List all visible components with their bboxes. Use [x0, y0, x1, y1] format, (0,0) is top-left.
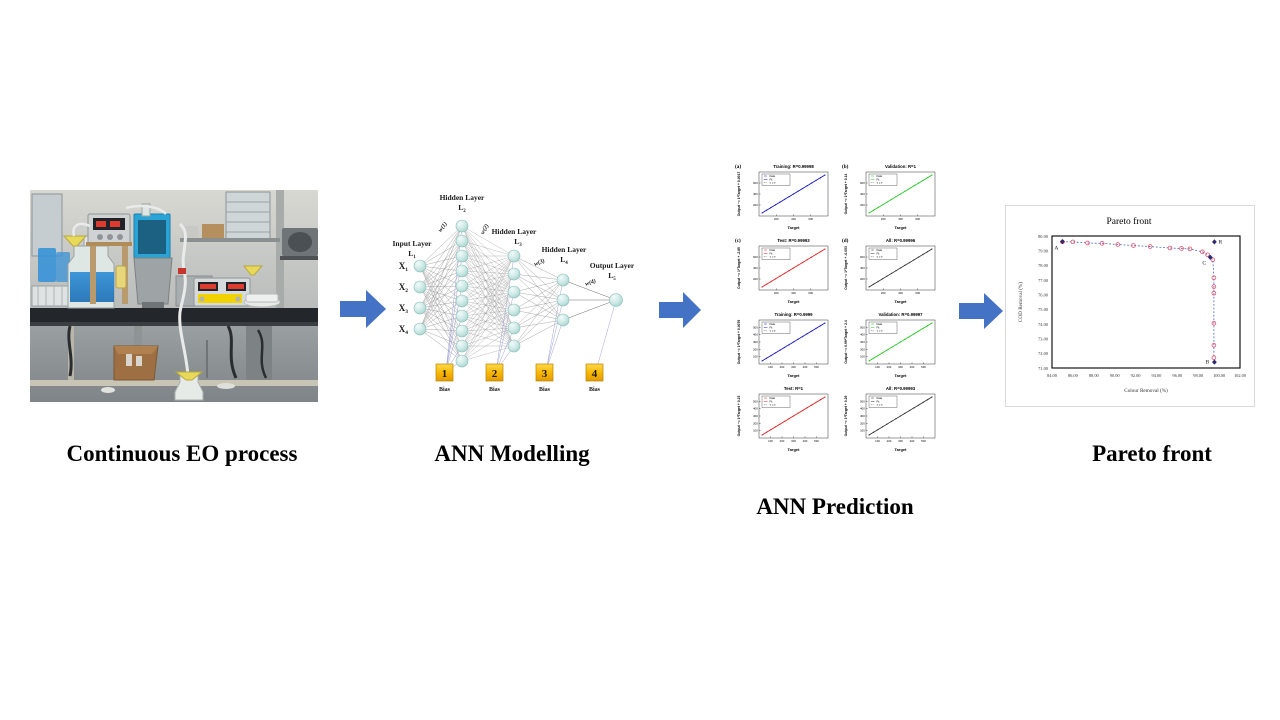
layer-symbol-hidden4: L4 [560, 255, 568, 266]
bias-value-1: 1 [442, 368, 448, 380]
legend-entry: Y = T [770, 181, 777, 185]
y-tick: 200 [860, 421, 865, 425]
right-arrow-icon [657, 290, 703, 330]
y-axis-label: Output ~= 1*Target + 0.23 [737, 396, 741, 437]
x-tick: 94.00 [1151, 373, 1162, 378]
layer-title-hidden4: Hidden Layer [542, 245, 587, 254]
layer-title-hidden3: Hidden Layer [492, 227, 537, 236]
y-tick: 600 [753, 255, 758, 259]
y-tick: 77.00 [1038, 278, 1049, 283]
chart-title: Pareto front [1106, 216, 1151, 227]
x-axis-label: Target [788, 373, 801, 378]
y-tick: 200 [753, 203, 758, 207]
weight-label-w3: w(3) [533, 257, 546, 268]
x-axis-label: Target [895, 447, 908, 452]
regression-panel: (b)Validation: R=1200200400400600600Data… [840, 160, 941, 230]
x-tick: 200 [887, 365, 892, 369]
regression-plot: Training: R=0.99991001002002003003004004… [733, 308, 834, 378]
legend-entry: Data [770, 248, 776, 252]
x-tick: 400 [803, 365, 808, 369]
y-tick: 100 [753, 355, 758, 359]
bias-value-3: 3 [542, 368, 548, 380]
y-tick: 71.00 [1038, 366, 1049, 371]
x-tick: 300 [791, 439, 796, 443]
panel-tag: (c) [735, 237, 741, 244]
y-tick: 400 [860, 192, 865, 196]
legend-entry: Y = T [770, 403, 777, 407]
legend-entry: Data [877, 248, 883, 252]
layer-symbol-hidden3: L3 [514, 237, 522, 248]
y-tick: 75.00 [1038, 307, 1049, 312]
y-tick: 200 [753, 347, 758, 351]
input-node-label-x1: X1 [399, 261, 409, 273]
y-tick: 300 [860, 414, 865, 418]
regression-plot: Test: R=1100100200200300300400400500500D… [733, 382, 834, 452]
regression-panel: Validation: R=0.999971001002002003003004… [840, 308, 941, 378]
y-axis-label: Output ~= 1*Target + 0.14 [844, 174, 848, 215]
y-tick: 400 [860, 333, 865, 337]
x-tick: 200 [774, 291, 779, 295]
regression-plot: (a)Training: R=0.99998200200400400600600… [733, 160, 834, 230]
x-axis-label: Target [895, 225, 908, 230]
y-tick: 72.00 [1038, 351, 1049, 356]
x-tick: 500 [814, 365, 819, 369]
legend-entry: Data [770, 322, 776, 326]
x-tick: 500 [814, 439, 819, 443]
legend-entry: Data [770, 174, 776, 178]
pareto-point-label: B [1206, 360, 1210, 366]
y-tick: 76.00 [1038, 292, 1049, 297]
legend-entry: Fit [770, 325, 773, 329]
layer-title-hidden2: Hidden Layer [440, 193, 485, 202]
x-tick: 200 [881, 217, 886, 221]
arrow-eo-to-ann [338, 288, 388, 335]
ann-hidden4-nodes [557, 274, 569, 326]
x-tick: 200 [881, 291, 886, 295]
y-tick: 200 [753, 421, 758, 425]
legend-entry: Y = T [877, 403, 884, 407]
y-tick: 200 [860, 347, 865, 351]
x-tick: 300 [791, 365, 796, 369]
y-tick: 200 [860, 203, 865, 207]
legend-entry: Data [877, 322, 883, 326]
y-tick: 73.00 [1038, 336, 1049, 341]
x-tick: 400 [898, 291, 903, 295]
regression-plot: (b)Validation: R=1200200400400600600Data… [840, 160, 941, 230]
ann-output-node [610, 294, 623, 307]
legend-entry: Data [877, 174, 883, 178]
x-tick: 400 [791, 217, 796, 221]
x-tick: 100.00 [1213, 373, 1226, 378]
x-axis-label: Colour Removal (%) [1124, 387, 1168, 394]
input-node-label-x3: X3 [399, 303, 409, 315]
regression-panel: Test: R=1100100200200300300400400500500D… [733, 382, 834, 452]
panel-title: Training: R=0.99998 [773, 164, 814, 169]
legend-entry: Y = T [877, 181, 884, 185]
legend-entry: Fit [877, 399, 880, 403]
legend-entry: Fit [877, 251, 880, 255]
y-axis-label: Output ~= 1*Target + -2.85 [737, 247, 741, 289]
layer-symbol-output: L5 [608, 271, 616, 282]
y-tick: 200 [753, 277, 758, 281]
x-tick: 600 [915, 217, 920, 221]
regression-panel: (d)All: R=0.99996200200400400600600DataF… [840, 234, 941, 304]
panel-title: Test: R=1 [784, 386, 804, 391]
y-tick: 100 [753, 429, 758, 433]
y-tick: 400 [753, 192, 758, 196]
ann-hidden2-nodes [456, 220, 468, 367]
layer-title-input: Input Layer [393, 239, 433, 248]
x-tick: 500 [921, 439, 926, 443]
regression-panel: Training: R=0.99991001002002003003004004… [733, 308, 834, 378]
panel-title: Validation: R=1 [885, 164, 917, 169]
ann-network-diagram: 1 2 3 4 Bias Bias Bias Bias Input Layer … [388, 188, 638, 406]
x-tick: 200 [887, 439, 892, 443]
bias-value-2: 2 [492, 368, 498, 380]
y-tick: 500 [860, 399, 865, 403]
legend-entry: Fit [770, 177, 773, 181]
caption-pareto-front: Pareto front [1022, 441, 1280, 467]
x-axis-label: Target [788, 225, 801, 230]
y-tick: 400 [753, 333, 758, 337]
x-tick: 92.00 [1131, 373, 1142, 378]
y-tick: 400 [753, 407, 758, 411]
prediction-grid-colour: (a)Training: R=0.99998200200400400600600… [733, 160, 941, 304]
y-tick: 400 [860, 407, 865, 411]
y-axis-label: Output ~= 1*Target + 0.29 [844, 396, 848, 437]
layer-symbol-hidden2: L2 [458, 203, 466, 214]
caption-eo-process: Continuous EO process [32, 441, 332, 467]
regression-plot: (c)Test: R=0.99993200200400400600600Data… [733, 234, 834, 304]
panel-tag: (a) [735, 163, 741, 170]
x-tick: 88.00 [1089, 373, 1100, 378]
legend-entry: Y = T [770, 329, 777, 333]
legend-entry: Data [770, 396, 776, 400]
x-tick: 200 [780, 439, 785, 443]
y-tick: 74.00 [1038, 322, 1049, 327]
x-tick: 100 [768, 439, 773, 443]
y-tick: 500 [753, 399, 758, 403]
y-tick: 300 [860, 340, 865, 344]
x-tick: 400 [898, 217, 903, 221]
legend-entry: Fit [770, 399, 773, 403]
y-tick: 600 [860, 255, 865, 259]
y-axis-label: Output ~= 1*Target + -0.053 [844, 246, 848, 290]
bias-label-3: Bias [539, 387, 551, 393]
regression-panel: (a)Training: R=0.99998200200400400600600… [733, 160, 834, 230]
ann-hidden3-nodes [508, 250, 520, 352]
bias-label-2: Bias [489, 387, 501, 393]
legend-entry: Y = T [770, 255, 777, 259]
pareto-point-label: A [1054, 246, 1058, 252]
x-tick: 84.00 [1047, 373, 1058, 378]
y-tick: 78.00 [1038, 263, 1049, 268]
caption-ann-modelling: ANN Modelling [382, 441, 642, 467]
x-tick: 200 [774, 217, 779, 221]
weight-label-w4: w(4) [584, 278, 597, 288]
y-tick: 400 [860, 266, 865, 270]
bias-label-4: Bias [589, 387, 601, 393]
layer-title-output: Output Layer [590, 261, 635, 270]
x-tick: 86.00 [1068, 373, 1079, 378]
y-tick: 500 [860, 325, 865, 329]
legend-entry: Y = T [877, 255, 884, 259]
panel-title: Test: R=0.99993 [777, 238, 810, 243]
arrow-prediction-to-pareto [957, 291, 1005, 336]
arrow-ann-to-prediction [657, 290, 703, 335]
x-tick: 100 [768, 365, 773, 369]
input-node-label-x2: X2 [399, 282, 409, 294]
bias-label-1: Bias [439, 387, 451, 393]
x-tick: 400 [803, 439, 808, 443]
x-tick: 102.00 [1234, 373, 1247, 378]
y-tick: 400 [753, 266, 758, 270]
x-tick: 400 [910, 365, 915, 369]
panel-title: Validation: R=0.99997 [878, 312, 923, 317]
y-tick: 600 [860, 181, 865, 185]
prediction-grid-cod: Training: R=0.99991001002002003003004004… [733, 308, 941, 452]
legend-entry: Fit [877, 177, 880, 181]
right-arrow-icon [957, 291, 1005, 331]
pareto-point-label: C [1202, 260, 1206, 266]
weight-label-w1: w(1) [437, 221, 449, 234]
regression-plot: Validation: R=0.999971001002002003003004… [840, 308, 941, 378]
x-axis-label: Target [788, 299, 801, 304]
plot-area [1052, 236, 1240, 368]
bias-value-4: 4 [592, 368, 598, 380]
panel-tag: (d) [842, 237, 849, 244]
panel-title: All: R=0.99993 [886, 386, 916, 391]
regression-plot: All: R=0.9999310010020020030030040040050… [840, 382, 941, 452]
pareto-point-label: R [1219, 239, 1223, 245]
eo-process-photo [30, 190, 318, 402]
y-axis-label: Output ~= 1*Target + 0.0076 [737, 320, 741, 365]
y-tick: 79.00 [1038, 248, 1049, 253]
y-tick: 100 [860, 429, 865, 433]
x-axis-label: Target [895, 299, 908, 304]
x-tick: 96.00 [1172, 373, 1183, 378]
x-tick: 300 [898, 439, 903, 443]
x-tick: 600 [808, 291, 813, 295]
legend-entry: Data [877, 396, 883, 400]
legend-entry: Y = T [877, 329, 884, 333]
y-axis-label: Output ~= 0.99*Target + 2.4 [844, 320, 848, 364]
legend-entry: Fit [877, 325, 880, 329]
weight-label-w2: w(2) [479, 223, 491, 236]
x-tick: 500 [921, 365, 926, 369]
regression-panel: All: R=0.9999310010020020030030040040050… [840, 382, 941, 452]
panel-title: Training: R=0.9999 [774, 312, 813, 317]
input-node-label-x4: X4 [399, 324, 409, 336]
ann-prediction-plots: (a)Training: R=0.99998200200400400600600… [733, 160, 941, 442]
x-tick: 300 [898, 365, 903, 369]
x-tick: 200 [780, 365, 785, 369]
y-tick: 300 [753, 414, 758, 418]
layer-symbol-input: L1 [408, 249, 416, 260]
x-tick: 100 [875, 365, 880, 369]
y-tick: 80.00 [1038, 234, 1049, 239]
right-arrow-icon [338, 288, 388, 330]
x-axis-label: Target [895, 373, 908, 378]
y-tick: 500 [753, 325, 758, 329]
x-tick: 600 [808, 217, 813, 221]
lab-setup-illustration [30, 190, 318, 402]
y-axis-label: Output ~= 1*Target + 0.0017 [737, 172, 741, 217]
x-tick: 600 [915, 291, 920, 295]
panel-title: All: R=0.99996 [886, 238, 916, 243]
y-tick: 200 [860, 277, 865, 281]
regression-panel: (c)Test: R=0.99993200200400400600600Data… [733, 234, 834, 304]
legend-entry: Fit [770, 251, 773, 255]
x-tick: 100 [875, 439, 880, 443]
x-tick: 90.00 [1110, 373, 1121, 378]
panel-tag: (b) [842, 163, 849, 170]
y-tick: 300 [753, 340, 758, 344]
y-tick: 100 [860, 355, 865, 359]
pareto-front-chart: Pareto front84.0086.0088.0090.0092.0094.… [1005, 205, 1255, 407]
x-tick: 98.00 [1193, 373, 1204, 378]
x-axis-label: Target [788, 447, 801, 452]
x-tick: 400 [910, 439, 915, 443]
x-tick: 400 [791, 291, 796, 295]
y-tick: 600 [753, 181, 758, 185]
regression-plot: (d)All: R=0.99996200200400400600600DataF… [840, 234, 941, 304]
y-axis-label: COD Removal (%) [1017, 282, 1024, 322]
caption-ann-prediction: ANN Prediction [700, 494, 970, 520]
